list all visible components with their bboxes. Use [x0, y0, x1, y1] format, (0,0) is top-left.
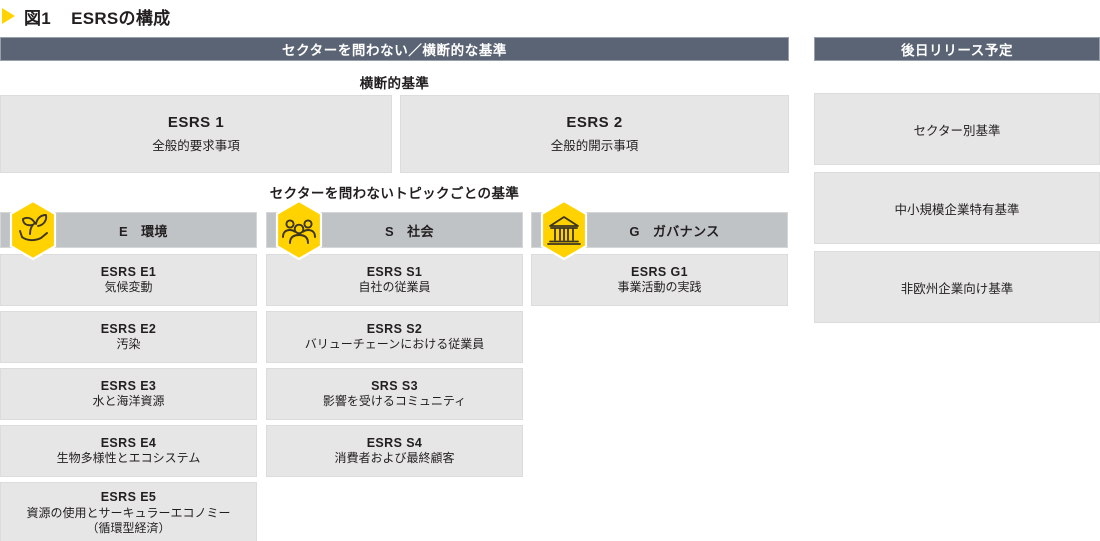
bank-building-icon [540, 200, 588, 260]
topic-desc: 影響を受けるコミュニティ [323, 394, 466, 410]
topic-code: SRS S3 [371, 378, 418, 394]
topic-item: ESRS E1 気候変動 [0, 254, 257, 306]
topic-code: ESRS E5 [101, 489, 157, 505]
topic-desc: バリューチェーンにおける従業員 [305, 337, 484, 353]
standard-code: ESRS 2 [566, 113, 622, 134]
category-label: Gガバナンス [599, 221, 719, 240]
topic-code: ESRS E2 [101, 321, 157, 337]
people-group-icon [275, 200, 323, 260]
standard-desc: 全般的開示事項 [551, 138, 639, 155]
topic-item: ESRS E5 資源の使用とサーキュラーエコノミー （循環型経済） [0, 482, 257, 541]
header-bar-cross-cutting: セクターを問わない／横断的な基準 [0, 37, 789, 61]
category-header-environment: E環境 [0, 212, 257, 248]
topic-desc: 生物多様性とエコシステム [57, 451, 201, 467]
caption-cross-cutting: 横断的基準 [0, 72, 789, 92]
topic-desc: 水と海洋資源 [92, 394, 164, 410]
category-letter: G [629, 224, 640, 239]
figure-number: 図1 [24, 4, 51, 29]
topic-item: SRS S3 影響を受けるコミュニティ [266, 368, 523, 420]
standard-desc: 全般的要求事項 [152, 138, 240, 155]
topic-item: ESRS E4 生物多様性とエコシステム [0, 425, 257, 477]
topic-desc: 自社の従業員 [358, 280, 430, 296]
play-triangle-icon [2, 8, 15, 24]
future-release-item: セクター別基準 [814, 93, 1100, 165]
topic-desc: 気候変動 [104, 280, 152, 296]
topic-code: ESRS E4 [101, 435, 157, 451]
topic-item: ESRS S4 消費者および最終顧客 [266, 425, 523, 477]
topic-code: ESRS E3 [101, 378, 157, 394]
general-standard-box: ESRS 1 全般的要求事項 [0, 95, 392, 173]
category-header-social: S社会 [266, 212, 523, 248]
topic-code: ESRS S1 [367, 264, 423, 280]
category-name: ガバナンス [653, 224, 720, 239]
future-release-item: 中小規模企業特有基準 [814, 172, 1100, 244]
category-label: E環境 [89, 221, 168, 240]
general-standard-box: ESRS 2 全般的開示事項 [400, 95, 789, 173]
figure-title: 図1 ESRSの構成 [0, 0, 560, 32]
topic-desc: 汚染 [116, 337, 140, 353]
future-release-item: 非欧州企業向け基準 [814, 251, 1100, 323]
topic-column-governance: Gガバナンス ESRS G1 事業活動の実践 [531, 212, 788, 311]
topic-column-social: S社会 ESRS S1 自社の従業員 ESRS S2 バリューチェーンにおける従… [266, 212, 523, 482]
topic-code: ESRS S4 [367, 435, 423, 451]
topic-desc: 消費者および最終顧客 [334, 451, 454, 467]
topic-code: ESRS G1 [631, 264, 688, 280]
topic-item: ESRS E3 水と海洋資源 [0, 368, 257, 420]
figure-name: ESRSの構成 [71, 4, 170, 29]
topic-column-environment: E環境 ESRS E1 気候変動 ESRS E2 汚染 ESRS E3 水と海洋… [0, 212, 257, 541]
figure-root: 図1 ESRSの構成 セクターを問わない／横断的な基準 後日リリース予定 横断的… [0, 0, 1100, 541]
standard-code: ESRS 1 [168, 113, 224, 134]
topic-desc: 事業活動の実践 [617, 280, 701, 296]
category-name: 社会 [407, 224, 434, 239]
topic-item: ESRS S2 バリューチェーンにおける従業員 [266, 311, 523, 363]
category-name: 環境 [141, 224, 168, 239]
topic-item: ESRS G1 事業活動の実践 [531, 254, 788, 306]
category-header-governance: Gガバナンス [531, 212, 788, 248]
topic-code: ESRS E1 [101, 264, 157, 280]
category-label: S社会 [355, 221, 434, 240]
category-letter: S [385, 224, 394, 239]
topic-desc: 資源の使用とサーキュラーエコノミー （循環型経済） [26, 506, 230, 537]
caption-topic-standards: セクターを問わないトピックごとの基準 [0, 182, 789, 202]
plant-in-hand-icon [9, 200, 57, 260]
category-letter: E [119, 224, 128, 239]
topic-item: ESRS S1 自社の従業員 [266, 254, 523, 306]
topic-item: ESRS E2 汚染 [0, 311, 257, 363]
topic-code: ESRS S2 [367, 321, 423, 337]
header-bar-future-release: 後日リリース予定 [814, 37, 1100, 61]
